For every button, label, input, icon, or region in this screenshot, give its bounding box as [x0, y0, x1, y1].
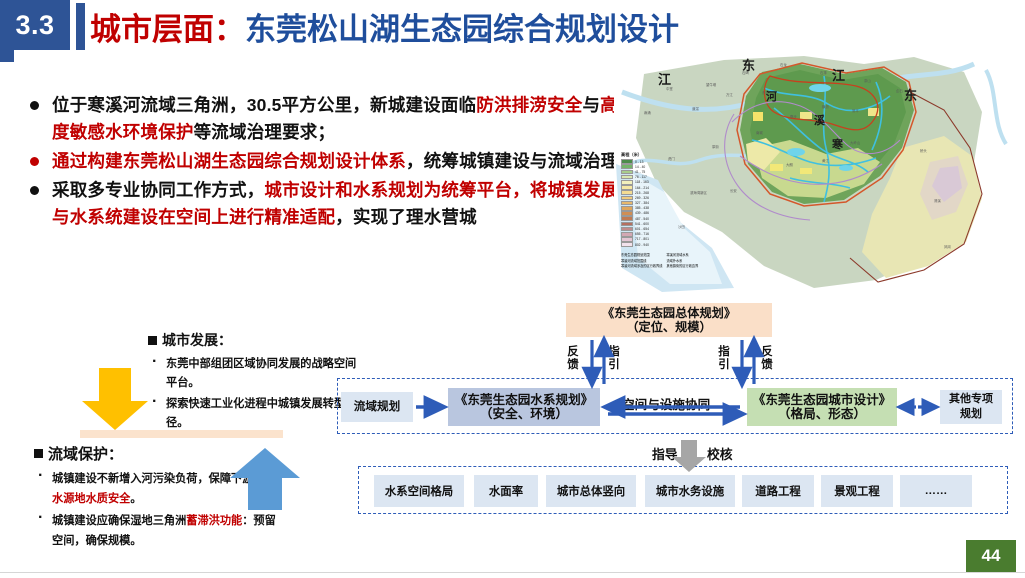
svg-text:厚街: 厚街 — [712, 144, 719, 149]
label-right-guide: 指引 — [717, 346, 731, 371]
legend-swatch — [621, 201, 633, 206]
square-bullet-icon — [34, 449, 43, 458]
leaf-box-2[interactable]: 水面率 — [474, 475, 538, 507]
svg-text:东: 东 — [904, 88, 917, 104]
bullet-item-1: 位于寒溪河流域三角洲，30.5平方公里，新城建设面临防洪排涝安全与高度敏感水环境… — [22, 92, 622, 146]
terrain-map: 中堂望牛墩 麻涌道滘 万江石碣 石龙石排 茶山企石 东城寮步 横沥常平 南城大朗… — [614, 52, 1014, 297]
leaf-box-1[interactable]: 水系空间格局 — [374, 475, 464, 507]
legend-swatch — [621, 190, 633, 195]
sub-block-heading: 城市发展： — [148, 330, 358, 350]
square-bullet-icon — [148, 336, 157, 345]
page-title-red: 城市层面： — [90, 4, 245, 49]
legend-row: 其他镇街的区行政边界 — [666, 263, 698, 268]
svg-text:凤岗: 凤岗 — [944, 244, 951, 249]
svg-text:横沥: 横沥 — [822, 104, 829, 109]
svg-text:江: 江 — [832, 68, 845, 84]
title-accent-bar — [76, 3, 85, 50]
svg-text:溪: 溪 — [814, 113, 826, 127]
svg-text:滨海湾新区: 滨海湾新区 — [690, 190, 708, 195]
sub-block-heading-text: 城市发展： — [162, 330, 232, 350]
legend-title: 高程（米） — [621, 152, 681, 158]
label-left-guide: 指引 — [607, 346, 621, 371]
text-line-2: （定位、规模） — [602, 320, 736, 334]
leaf-box-3[interactable]: 城市总体竖向 — [546, 475, 636, 507]
bullet-marker-icon — [30, 186, 39, 195]
label-space-facility-coordination: 空间与设施协同 — [622, 394, 710, 413]
page-title: 城市层面：东莞松山湖生态园综合规划设计 — [90, 2, 679, 50]
bullet-marker-icon — [30, 101, 39, 110]
svg-text:常平: 常平 — [852, 108, 859, 113]
text-line-2: （格局、形态） — [753, 407, 892, 421]
legend-swatch — [621, 196, 633, 201]
svg-text:万江: 万江 — [726, 92, 733, 97]
svg-text:石龙: 石龙 — [780, 62, 787, 67]
bullet-list: 位于寒溪河流域三角洲，30.5平方公里，新城建设面临防洪排涝安全与高度敏感水环境… — [22, 92, 622, 233]
text-line-2: 规划 — [949, 407, 993, 422]
legend-swatch — [621, 206, 633, 211]
legend-features-col-left: 东莞生态园规划范围 寒溪河流域范围线 寒溪河流域涉及的区行政界线 — [621, 252, 666, 268]
svg-text:清溪: 清溪 — [934, 198, 941, 203]
legend-row: 802 - 940 — [621, 242, 681, 247]
leaf-box-5[interactable]: 道路工程 — [742, 475, 814, 507]
legend-swatch — [621, 237, 633, 242]
legend-swatch — [621, 159, 633, 164]
down-arrow-yellow-icon — [82, 368, 148, 430]
leaf-box-6[interactable]: 景观工程 — [821, 475, 893, 507]
bullet-item-2: 通过构建东莞松山湖生态园综合规划设计体系，统筹城镇建设与流域治理 — [22, 148, 622, 175]
diagram-box-water-system-plan[interactable]: 《东莞生态园水系规划》 （安全、环境） — [448, 388, 600, 426]
svg-text:河: 河 — [766, 89, 777, 103]
list-item: 东莞中部组团区域协同发展的战略空间平台。 — [148, 355, 358, 393]
diagram-box-other-plans-text: 其他专项 规划 — [949, 392, 993, 422]
up-arrow-blue-icon — [230, 448, 300, 510]
peach-divider-bar — [80, 430, 283, 438]
list-item: 探索快速工业化进程中城镇发展转型路径。 — [148, 395, 358, 433]
map-legend-elevation: 高程（米） 0 - 13 14 - 40 41 - 75 76 - 117 11… — [621, 152, 681, 247]
svg-text:大朗: 大朗 — [786, 162, 793, 167]
svg-text:南城: 南城 — [756, 130, 763, 135]
bullet-marker-icon — [30, 157, 39, 166]
header-left-stub — [0, 50, 14, 62]
list-item: 城镇建设应确保湿地三角洲蓄滞洪功能：预留空间，确保规模。 — [34, 511, 284, 551]
legend-swatch — [621, 164, 633, 169]
legend-swatch — [621, 185, 633, 190]
bullet-text-1: 位于寒溪河流域三角洲，30.5平方公里，新城建设面临防洪排涝安全与高度敏感水环境… — [52, 92, 622, 146]
diagram-box-other-plans[interactable]: 其他专项 规划 — [940, 390, 1002, 424]
bullet-item-3: 采取多专业协同工作方式，城市设计和水系规划为统筹平台，将城镇发展与水系统建设在空… — [22, 177, 622, 231]
legend-swatch — [621, 175, 633, 180]
slide-root: 3.3 城市层面：东莞松山湖生态园综合规划设计 位于寒溪河流域三角洲，30.5平… — [0, 0, 1025, 578]
leaf-box-4[interactable]: 城市水务设施 — [645, 475, 735, 507]
svg-text:长安: 长安 — [730, 188, 737, 193]
svg-text:寒: 寒 — [831, 137, 844, 151]
svg-text:石排: 石排 — [820, 70, 827, 75]
svg-text:茶山: 茶山 — [864, 78, 871, 83]
legend-swatch — [621, 216, 633, 221]
legend-swatch — [621, 180, 633, 185]
legend-features-col-right: 寒溪河流域水系 流域外水系 其他镇街的区行政边界 — [666, 252, 702, 268]
legend-swatch — [621, 211, 633, 216]
legend-swatch — [621, 242, 633, 247]
legend-swatch — [621, 232, 633, 237]
page-title-blue: 东莞松山湖生态园综合规划设计 — [245, 4, 679, 49]
diagram-box-master-plan[interactable]: 《东莞生态园总体规划》 （定位、规模） — [566, 303, 772, 337]
text-line-1: 《东莞生态园城市设计》 — [753, 393, 892, 407]
svg-text:望牛墩: 望牛墩 — [706, 82, 717, 87]
sub-block-heading-text: 流域保护： — [48, 443, 123, 464]
bullet-text-3: 采取多专业协同工作方式，城市设计和水系规划为统筹平台，将城镇发展与水系统建设在空… — [52, 177, 622, 231]
diagram-box-basin-planning[interactable]: 流域规划 — [341, 392, 413, 422]
legend-features-columns: 东莞生态园规划范围 寒溪河流域范围线 寒溪河流域涉及的区行政界线 寒溪河流域水系… — [621, 252, 756, 268]
label-check: 校核 — [707, 444, 733, 463]
diagram-box-water-system-plan-text: 《东莞生态园水系规划》 （安全、环境） — [455, 393, 594, 421]
legend-swatch — [621, 222, 633, 227]
diagram-box-urban-design[interactable]: 《东莞生态园城市设计》 （格局、形态） — [747, 388, 897, 426]
svg-text:黄江: 黄江 — [822, 158, 829, 163]
legend-band-list: 0 - 13 14 - 40 41 - 75 76 - 117 118 - 16… — [621, 159, 681, 247]
svg-text:道滘: 道滘 — [692, 106, 699, 111]
footer-divider — [0, 572, 1025, 573]
svg-text:寮步: 寮步 — [790, 114, 797, 119]
svg-text:大岭山: 大岭山 — [850, 140, 861, 145]
label-left-feedback: 反馈 — [566, 346, 580, 371]
svg-text:江: 江 — [658, 72, 671, 88]
diagram-box-urban-design-text: 《东莞生态园城市设计》 （格局、形态） — [753, 393, 892, 421]
diagram-box-master-plan-text: 《东莞生态园总体规划》 （定位、规模） — [602, 306, 736, 334]
section-number-badge: 3.3 — [0, 0, 70, 50]
legend-swatch — [621, 170, 633, 175]
svg-text:企石: 企石 — [896, 88, 903, 93]
sub-block-urban-development: 城市发展： 东莞中部组团区域协同发展的战略空间平台。 探索快速工业化进程中城镇发… — [148, 330, 358, 435]
sub-block-items: 东莞中部组团区域协同发展的战略空间平台。 探索快速工业化进程中城镇发展转型路径。 — [148, 355, 358, 433]
legend-row: 寒溪河流域涉及的区行政界线 — [621, 263, 662, 268]
text-line-1: 《东莞生态园水系规划》 — [455, 393, 594, 407]
label-guide: 指导 — [652, 444, 678, 463]
bullet-text-2: 通过构建东莞松山湖生态园综合规划设计体系，统筹城镇建设与流域治理 — [52, 148, 622, 175]
label-right-feedback: 反馈 — [760, 346, 774, 371]
text-line-1: 《东莞生态园总体规划》 — [602, 306, 736, 320]
svg-text:桥头: 桥头 — [920, 148, 927, 153]
page-number-badge: 44 — [966, 540, 1016, 572]
svg-text:麻涌: 麻涌 — [644, 110, 651, 115]
map-legend-features: 东莞生态园规划范围 寒溪河流域范围线 寒溪河流域涉及的区行政界线 寒溪河流域水系… — [621, 252, 756, 268]
svg-text:东: 东 — [742, 58, 755, 74]
legend-swatch — [621, 227, 633, 232]
text-line-2: （安全、环境） — [455, 407, 594, 421]
text-line-1: 其他专项 — [949, 392, 993, 407]
leaf-box-7[interactable]: …… — [900, 475, 972, 507]
